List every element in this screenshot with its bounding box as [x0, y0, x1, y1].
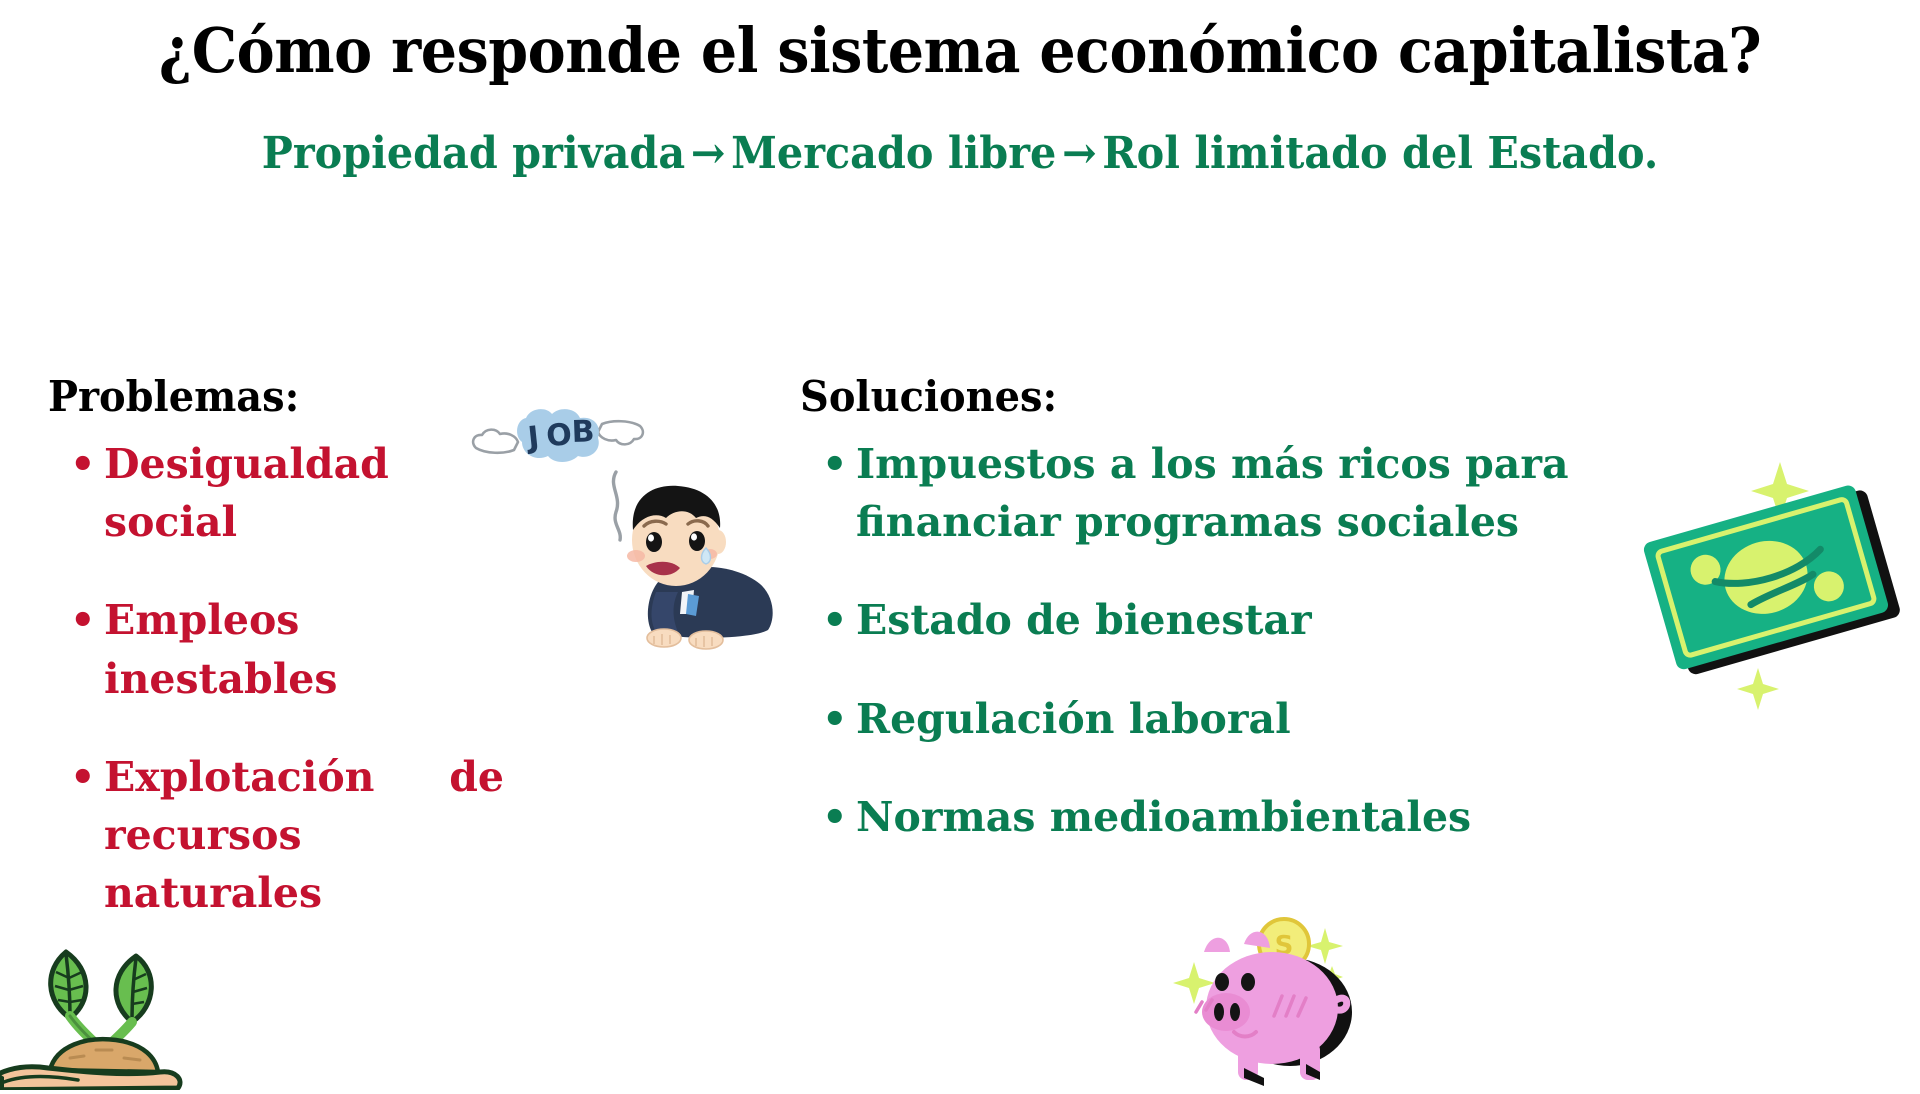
list-item: • Impuestos a los más ricos para financi…	[856, 435, 1686, 551]
list-item: • Normas medioambientales	[856, 788, 1686, 846]
solutions-heading: Soluciones:	[800, 372, 1760, 421]
arrow-right-icon-2: →	[1056, 128, 1102, 179]
job-flying-away-icon: J O B	[468, 404, 648, 474]
list-item-label: Impuestos a los más ricos para financiar…	[856, 440, 1569, 546]
arrow-right-icon-1: →	[685, 128, 731, 179]
bullet-dot-icon: •	[822, 692, 848, 749]
list-item-label: Desigualdad social	[104, 440, 389, 546]
list-item: • Empleos inestables	[104, 591, 504, 707]
subtitle-part-3: Rol limitado del Estado.	[1102, 128, 1658, 179]
bullet-dot-icon: •	[822, 790, 848, 847]
bullet-dot-icon: •	[70, 750, 96, 807]
page-title: ¿Cómo responde el sistema económico capi…	[77, 18, 1843, 83]
bullet-dot-icon: •	[70, 437, 96, 494]
list-item-label: Explotación de recursos naturales	[104, 753, 504, 917]
bullet-dot-icon: •	[822, 593, 848, 650]
svg-text:B: B	[571, 414, 595, 450]
list-item-label: Regulación laboral	[856, 695, 1291, 743]
subtitle-part-1: Propiedad privada	[262, 128, 685, 179]
list-item-label: Empleos inestables	[104, 596, 337, 702]
piggy-bank-icon: S	[1160, 900, 1390, 1090]
subtitle-flow: Propiedad privada→Mercado libre→Rol limi…	[58, 130, 1863, 178]
problems-list: • Desigualdad social • Empleos inestable…	[48, 435, 668, 923]
seedling-in-hand-icon	[0, 930, 230, 1090]
banknote-icon	[1630, 430, 1920, 710]
svg-text:O: O	[545, 417, 573, 454]
bullet-dot-icon: •	[822, 437, 848, 494]
list-item: • Estado de bienestar	[856, 591, 1686, 649]
list-item-label: Normas medioambientales	[856, 793, 1471, 841]
list-item: • Desigualdad social	[104, 435, 504, 551]
list-item: • Regulación laboral	[856, 690, 1686, 748]
bullet-dot-icon: •	[70, 593, 96, 650]
list-item-label: Estado de bienestar	[856, 596, 1312, 644]
slide-canvas: ¿Cómo responde el sistema económico capi…	[0, 0, 1920, 1080]
sad-businessman-icon	[600, 468, 800, 658]
subtitle-part-2: Mercado libre	[731, 128, 1056, 179]
list-item: • Explotación de recursos naturales	[104, 748, 504, 923]
